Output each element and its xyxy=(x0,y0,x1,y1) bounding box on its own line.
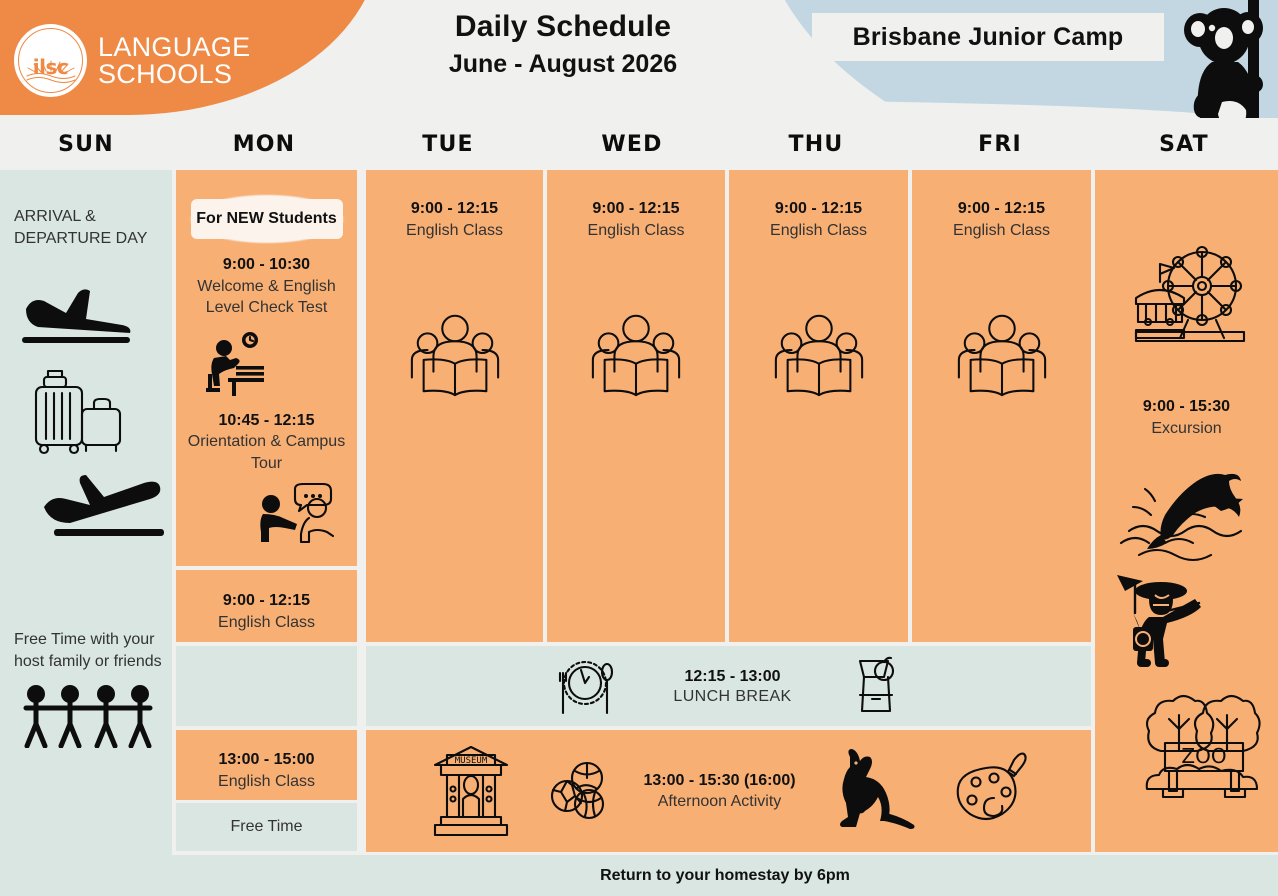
monday-afternoon-time: 13:00 - 15:00 xyxy=(218,749,314,771)
ferris-wheel-icon xyxy=(1128,242,1246,350)
class-group-book-icon xyxy=(587,303,685,401)
ilsc-logo: ilsc LANGUAGE SCHOOLS xyxy=(14,24,250,97)
page-subtitle: June - August 2026 xyxy=(403,48,723,81)
conversation-icon xyxy=(259,482,335,544)
day-header-wed: WED xyxy=(540,118,724,170)
plane-landing-icon xyxy=(18,279,138,349)
tuesday-class-label: English Class xyxy=(406,220,503,241)
afternoon-activity-row[interactable]: MUSEUM 13:00 - 15:30 (16:00) Afternoon A… xyxy=(366,730,1091,852)
svg-text:MUSEUM: MUSEUM xyxy=(455,756,488,766)
schedule-grid: ARRIVAL & DEPARTURE DAY xyxy=(0,170,1278,896)
logo-text-line2: SCHOOLS xyxy=(98,61,250,87)
thursday-class-time: 9:00 - 12:15 xyxy=(775,198,862,220)
friday-class-time: 9:00 - 12:15 xyxy=(958,198,1045,220)
sunrise-waves-icon xyxy=(25,59,77,85)
monday-class-cell[interactable]: 9:00 - 12:15 English Class xyxy=(176,570,357,642)
lunch-label: LUNCH BREAK xyxy=(673,688,791,706)
student-at-desk-clock-icon xyxy=(202,330,274,396)
sports-balls-icon xyxy=(547,758,609,824)
monday-lunch-cell xyxy=(176,646,357,726)
new-students-banner: For NEW Students xyxy=(185,192,349,246)
wednesday-class-cell[interactable]: 9:00 - 12:15 English Class xyxy=(547,170,725,642)
lunch-text-block: 12:15 - 13:00 LUNCH BREAK xyxy=(673,666,791,706)
title-block: Daily Schedule June - August 2026 xyxy=(403,8,723,80)
saturday-label: Excursion xyxy=(1151,418,1221,439)
ilsc-logo-text: LANGUAGE SCHOOLS xyxy=(98,34,250,86)
saturday-time: 9:00 - 15:30 xyxy=(1143,396,1230,418)
monday-free-time-cell[interactable]: Free Time xyxy=(176,803,357,851)
monday-block2-time: 10:45 - 12:15 xyxy=(218,410,314,432)
lunch-bag-apple-icon xyxy=(850,655,902,717)
camp-name-badge: Brisbane Junior Camp xyxy=(812,13,1164,61)
monday-morning-cell[interactable]: For NEW Students 9:00 - 10:30 Welcome & … xyxy=(176,170,357,566)
day-header-tue: TUE xyxy=(356,118,540,170)
logo-text-line1: LANGUAGE xyxy=(98,34,250,60)
afternoon-text-block: 13:00 - 15:30 (16:00) Afternoon Activity xyxy=(643,770,795,813)
paint-palette-icon xyxy=(950,750,1028,832)
lunch-time: 12:15 - 13:00 xyxy=(673,666,791,688)
day-header-sun: SUN xyxy=(0,118,172,170)
zoo-sign-icon: ZOO xyxy=(1139,689,1263,799)
tour-guide-flag-icon xyxy=(1115,569,1213,687)
family-holding-hands-icon xyxy=(18,682,158,748)
sunday-free-time-note: Free Time with your host family or frien… xyxy=(14,629,162,672)
tuesday-class-time: 9:00 - 12:15 xyxy=(411,198,498,220)
afternoon-time: 13:00 - 15:30 (16:00) xyxy=(643,770,795,792)
saturday-column[interactable]: 9:00 - 15:30 Excursion xyxy=(1095,170,1278,852)
luggage-icon xyxy=(28,367,136,459)
page-title: Daily Schedule xyxy=(403,8,723,46)
monday-block1-label: Welcome & English Level Check Test xyxy=(184,276,349,318)
monday-afternoon-label: English Class xyxy=(218,771,315,792)
sunday-column[interactable]: ARRIVAL & DEPARTURE DAY xyxy=(0,170,172,896)
footer-note: Return to your homestay by 6pm xyxy=(172,855,1278,896)
day-header-sat: SAT xyxy=(1092,118,1276,170)
ilsc-circle-icon: ilsc xyxy=(14,24,87,97)
sunday-heading: ARRIVAL & DEPARTURE DAY xyxy=(14,206,162,249)
monday-class-label: English Class xyxy=(218,612,315,633)
friday-class-label: English Class xyxy=(953,220,1050,241)
monday-free-time-label: Free Time xyxy=(230,816,302,837)
tuesday-class-cell[interactable]: 9:00 - 12:15 English Class xyxy=(366,170,543,642)
svg-text:ZOO: ZOO xyxy=(1181,744,1226,768)
museum-icon: MUSEUM xyxy=(429,741,513,841)
page-header: ilsc LANGUAGE SCHOOLS Daily Schedule Jun… xyxy=(0,0,1278,118)
dolphin-waves-icon xyxy=(1117,465,1257,563)
koala-icon xyxy=(1182,0,1272,118)
day-header-mon: MON xyxy=(172,118,356,170)
class-group-book-icon xyxy=(770,303,868,401)
monday-afternoon-cell[interactable]: 13:00 - 15:00 English Class xyxy=(176,730,357,800)
class-group-book-icon xyxy=(953,303,1051,401)
day-header-fri: FRI xyxy=(908,118,1092,170)
day-header-thu: THU xyxy=(724,118,908,170)
wednesday-class-time: 9:00 - 12:15 xyxy=(592,198,679,220)
clock-fork-spoon-icon xyxy=(555,655,615,717)
day-header-row: SUN MON TUE WED THU FRI SAT xyxy=(0,118,1278,170)
friday-class-cell[interactable]: 9:00 - 12:15 English Class xyxy=(912,170,1091,642)
thursday-class-cell[interactable]: 9:00 - 12:15 English Class xyxy=(729,170,908,642)
monday-block2-label: Orientation & Campus Tour xyxy=(184,431,349,473)
afternoon-label: Afternoon Activity xyxy=(643,791,795,812)
class-group-book-icon xyxy=(406,303,504,401)
kangaroo-icon xyxy=(830,747,916,835)
monday-block1-time: 9:00 - 10:30 xyxy=(223,254,310,276)
thursday-class-label: English Class xyxy=(770,220,867,241)
plane-takeoff-icon xyxy=(40,467,168,539)
monday-class-time: 9:00 - 12:15 xyxy=(223,590,310,612)
wednesday-class-label: English Class xyxy=(588,220,685,241)
lunch-break-row[interactable]: 12:15 - 13:00 LUNCH BREAK xyxy=(366,646,1091,726)
